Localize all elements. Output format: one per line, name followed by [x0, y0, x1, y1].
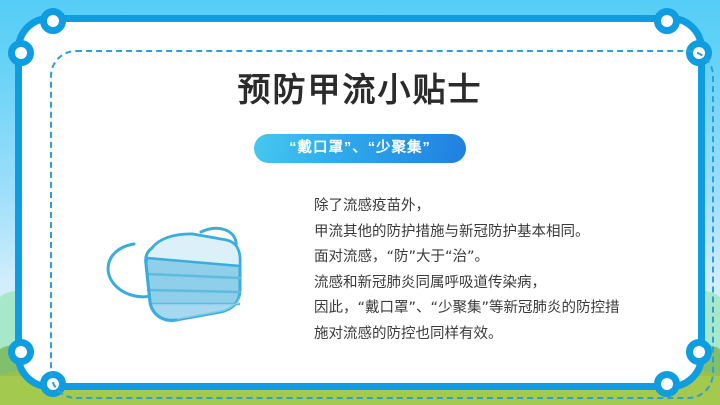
corner-notch-bottom-left-a	[8, 339, 34, 365]
corner-notch-bottom-right-a	[686, 339, 712, 365]
content-card: 预防甲流小贴士 “戴口罩”、“少聚集”	[15, 15, 705, 390]
status-badge: “戴口罩”、“少聚集”	[254, 134, 466, 163]
corner-notch-top-right-b	[654, 8, 680, 34]
body-text-block: 除了流感疫苗外， 甲流其他的防护措施与新冠防护基本相同。 面对流感，“防”大于“…	[314, 194, 654, 347]
body-line: 因此，“戴口罩”、“少聚集”等新冠肺炎的防控措	[314, 296, 654, 322]
body-line: 除了流感疫苗外，	[314, 194, 654, 220]
face-mask-icon	[100, 218, 255, 326]
body-line: 施对流感的防控也同样有效。	[314, 322, 654, 348]
corner-notch-bottom-left-b	[40, 371, 66, 397]
body-line: 面对流感，“防”大于“治”。	[314, 245, 654, 271]
corner-notch-top-left-b	[40, 8, 66, 34]
slide-canvas: 预防甲流小贴士 “戴口罩”、“少聚集”	[0, 0, 720, 405]
corner-notch-bottom-right-b	[654, 371, 680, 397]
page-title: 预防甲流小贴士	[22, 63, 698, 111]
body-line: 流感和新冠肺炎同属呼吸道传染病，	[314, 271, 654, 297]
body-line: 甲流其他的防护措施与新冠防护基本相同。	[314, 220, 654, 246]
